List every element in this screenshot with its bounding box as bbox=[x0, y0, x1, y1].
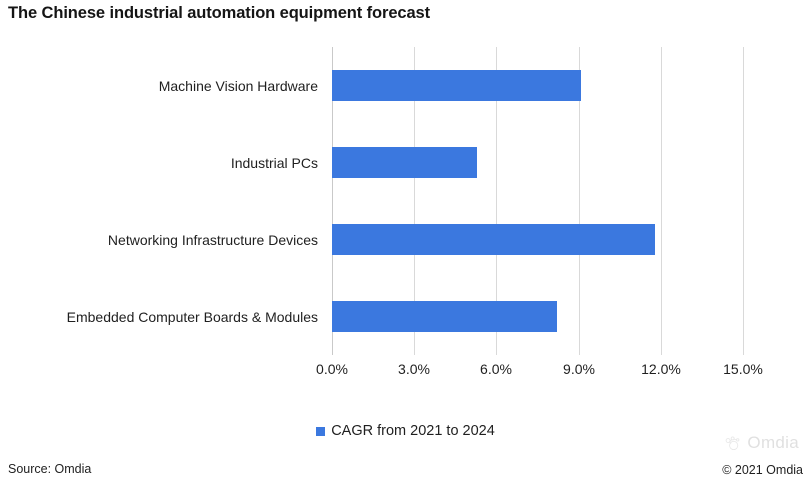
category-axis-label: Embedded Computer Boards & Modules bbox=[0, 310, 318, 324]
source-note: Source: Omdia bbox=[8, 462, 91, 476]
bar[interactable] bbox=[332, 147, 477, 178]
chart-canvas: Machine Vision HardwareIndustrial PCsNet… bbox=[0, 0, 811, 486]
value-axis-tick-label: 9.0% bbox=[563, 361, 595, 377]
category-axis-label: Networking Infrastructure Devices bbox=[0, 233, 318, 247]
chart-legend: CAGR from 2021 to 2024 bbox=[0, 423, 811, 439]
bar-track bbox=[332, 147, 743, 178]
value-axis-tick-label: 0.0% bbox=[316, 361, 348, 377]
value-axis-tick-label: 3.0% bbox=[398, 361, 430, 377]
omdia-watermark-text: Omdia bbox=[747, 433, 799, 453]
omdia-logo-icon bbox=[723, 434, 742, 453]
copyright-note: © 2021 Omdia bbox=[722, 463, 803, 477]
category-axis-label: Industrial PCs bbox=[0, 156, 318, 170]
bar-track bbox=[332, 70, 743, 101]
legend-item-label: CAGR from 2021 to 2024 bbox=[331, 423, 495, 439]
value-axis-tick-label: 15.0% bbox=[723, 361, 763, 377]
legend-swatch-icon bbox=[316, 427, 325, 436]
value-axis: 0.0%3.0%6.0%9.0%12.0%15.0% bbox=[332, 361, 743, 383]
bar[interactable] bbox=[332, 70, 581, 101]
category-axis: Machine Vision HardwareIndustrial PCsNet… bbox=[0, 47, 318, 355]
bar[interactable] bbox=[332, 224, 655, 255]
bar-track bbox=[332, 301, 743, 332]
legend-item-cagr[interactable]: CAGR from 2021 to 2024 bbox=[316, 423, 495, 439]
omdia-watermark: Omdia bbox=[723, 433, 799, 453]
value-axis-tick-label: 6.0% bbox=[480, 361, 512, 377]
bar-track bbox=[332, 224, 743, 255]
gridline-vertical bbox=[743, 47, 744, 355]
value-axis-tick-label: 12.0% bbox=[641, 361, 681, 377]
plot-area bbox=[332, 47, 743, 355]
category-axis-label: Machine Vision Hardware bbox=[0, 79, 318, 93]
bar[interactable] bbox=[332, 301, 557, 332]
